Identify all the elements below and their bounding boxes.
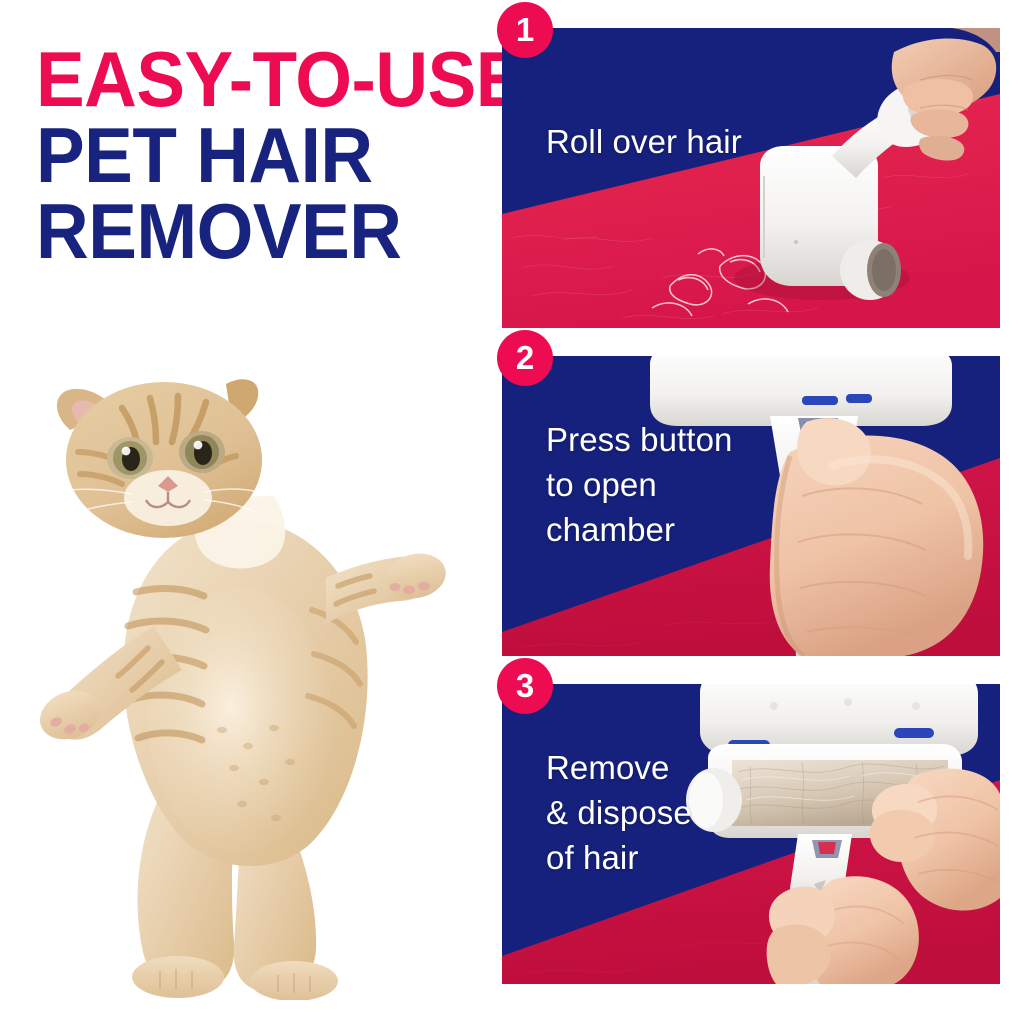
step-1-scene (502, 28, 1000, 328)
step-caption-2: Press button to open chamber (546, 418, 732, 553)
cat-head (57, 379, 262, 538)
step-badge-2: 2 (497, 330, 553, 386)
headline-line-pet-hair: PET HAIR (36, 120, 447, 192)
step-caption-1: Roll over hair (546, 120, 742, 165)
step-number-label: 1 (516, 13, 534, 46)
cat-photo (26, 370, 456, 1000)
step-badge-3: 3 (497, 658, 553, 714)
step-number-label: 3 (516, 669, 534, 702)
step-panel-1: 1 Roll over hair (502, 28, 1000, 328)
step-panel-2: 2 Press button to open chamber (502, 356, 1000, 656)
step-badge-1: 1 (497, 2, 553, 58)
cat-right-foreleg (326, 548, 450, 624)
step-number-label: 2 (516, 341, 534, 374)
step-1-image (502, 28, 1000, 328)
headline-line-easy-to-use: EASY-TO-USE (36, 44, 447, 116)
step-panel-3: 3 Remove & dispose of hair (502, 684, 1000, 984)
step-caption-3: Remove & dispose of hair (546, 746, 692, 881)
cat-illustration (26, 370, 456, 1000)
headline-line-remover: REMOVER (36, 196, 447, 268)
hand-left-3 (767, 876, 919, 984)
infographic-page: EASY-TO-USE PET HAIR REMOVER (0, 0, 1024, 1024)
headline-block: EASY-TO-USE PET HAIR REMOVER (36, 44, 476, 267)
